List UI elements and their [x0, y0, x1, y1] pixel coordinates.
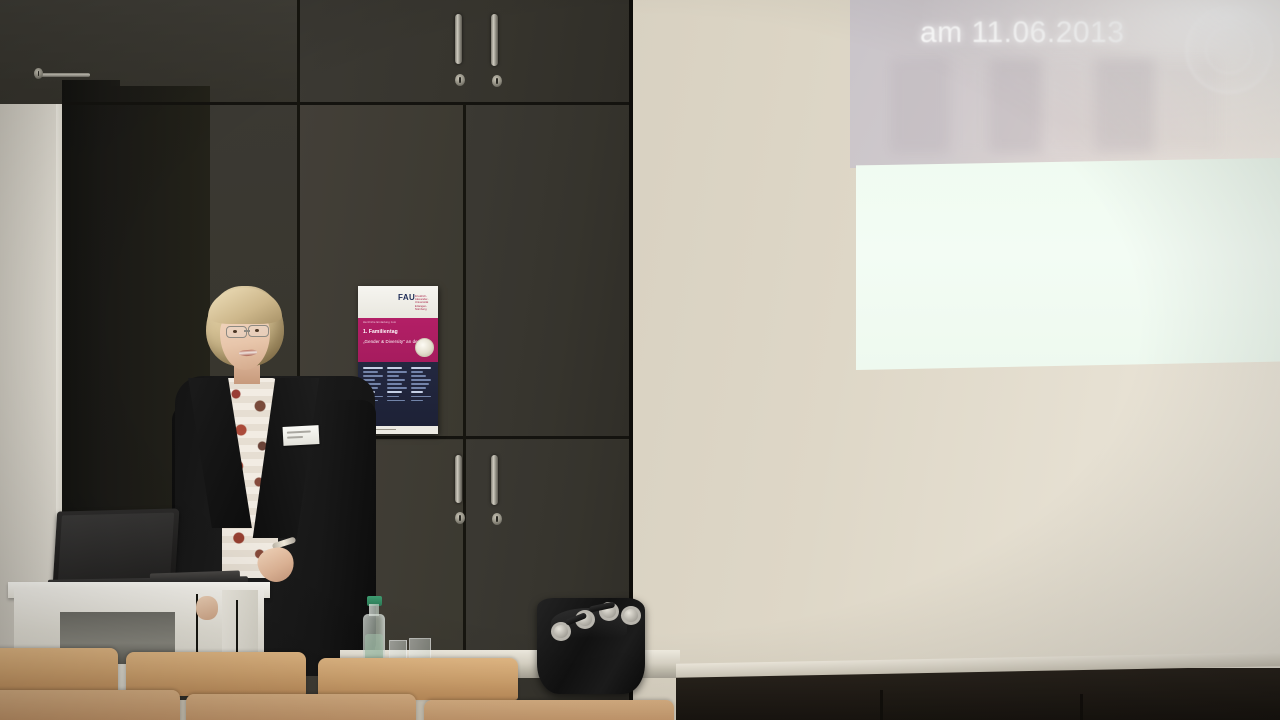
black-handbag[interactable] — [537, 598, 645, 694]
cabinet-handle-upper-left[interactable] — [455, 14, 462, 64]
cabinet-lock-upper-right[interactable] — [492, 75, 502, 87]
chair-back-row1-a[interactable] — [0, 690, 180, 720]
slide-ghost-content — [890, 58, 1220, 153]
chair-back-row1-c[interactable] — [424, 700, 674, 720]
cabinet-lock-upper-left[interactable] — [455, 74, 465, 86]
cabinet-lock-top-left[interactable] — [34, 68, 43, 79]
chair-back-row2-a[interactable] — [0, 648, 118, 694]
speaker-left-hand — [196, 596, 218, 620]
poster-seal-icon — [415, 338, 434, 357]
cabinet-upper-door-right[interactable] — [300, 0, 630, 104]
chair-back-row1-b[interactable] — [186, 694, 416, 720]
cabinet-seam-horizontal-top — [62, 102, 632, 105]
poster-kicker: Herzliche Einladung zum — [363, 321, 396, 324]
cabinet-handle-lower-left[interactable] — [455, 455, 462, 503]
floor-panel-seam-2 — [1080, 694, 1083, 720]
projected-slide-bright-panel — [856, 158, 1280, 370]
screenshot-frame: FAU Friedrich-Alexander-Universität Erla… — [0, 0, 1280, 720]
poster-column-2 — [387, 367, 409, 404]
cabinet-handle-lower-right[interactable] — [491, 455, 498, 505]
cabinet-lock-lower-right[interactable] — [492, 513, 502, 525]
poster-title-band: Herzliche Einladung zum 1. Familientag „… — [358, 318, 438, 362]
cabinet-door-upper-right[interactable] — [465, 104, 630, 436]
speaker-eye-left — [233, 330, 237, 333]
slide-date-text: am 11.06.2013 — [920, 16, 1124, 50]
floor-panel-seam-1 — [880, 690, 883, 720]
poster-org-subtitle: Friedrich-Alexander-Universität Erlangen… — [415, 295, 435, 311]
speaker-right-arm — [320, 400, 376, 650]
projected-slide-upper: am 11.06.2013 — [850, 0, 1280, 168]
cabinet-edge-right — [629, 0, 633, 700]
poster-header: FAU Friedrich-Alexander-Universität Erla… — [358, 286, 438, 318]
speaker-eye-right — [255, 329, 259, 332]
cabinet-handle-upper-right[interactable] — [491, 14, 498, 66]
poster-fau-logo: FAU — [398, 294, 415, 302]
eyeglasses-bridge-icon — [244, 330, 250, 332]
cabinet-handle-top-left[interactable] — [40, 73, 90, 77]
circular-watermark-logo-icon — [1185, 6, 1273, 94]
cabinet-seam-vertical-mid — [463, 104, 466, 700]
name-badge — [283, 425, 320, 446]
cabinet-lock-lower-left[interactable] — [455, 512, 465, 524]
poster-column-3 — [411, 367, 433, 404]
poster-title-line1: 1. Familientag — [363, 329, 398, 335]
